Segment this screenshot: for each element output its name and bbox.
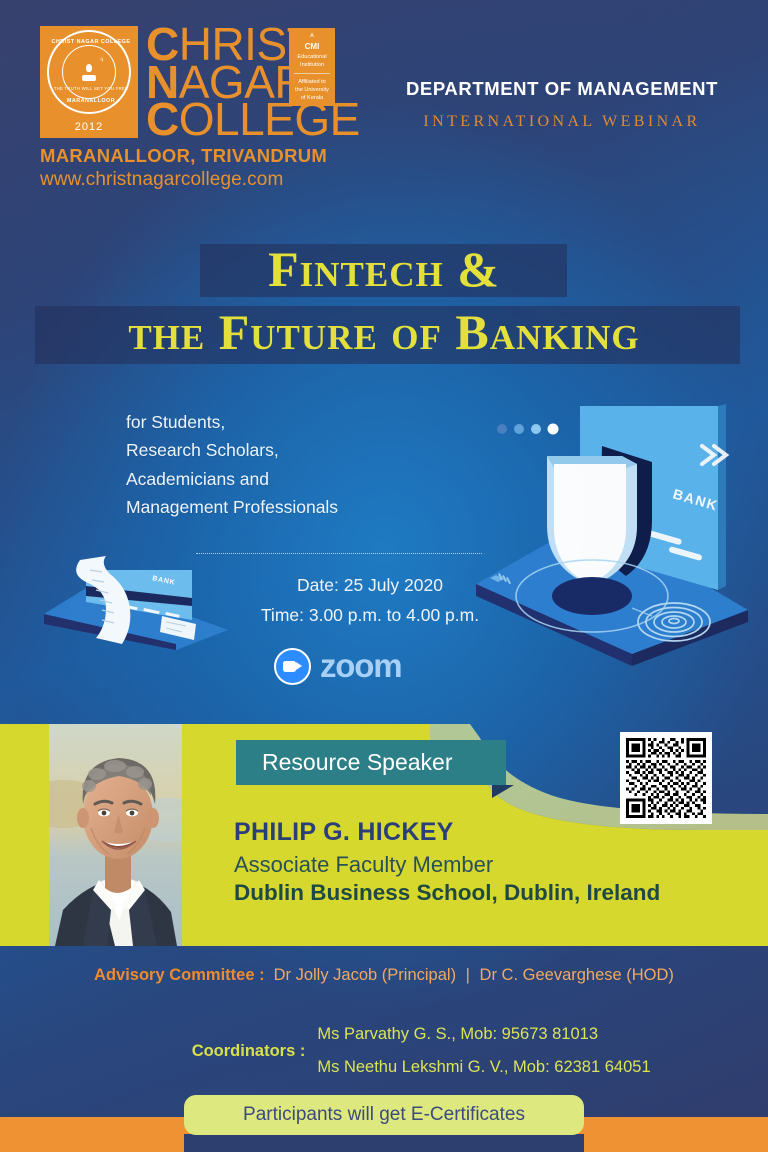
badge-line-6: the University	[289, 86, 335, 94]
cmi-affiliation-badge: A CMI Educational Institution Affiliated…	[289, 28, 335, 106]
coordinators-label: Coordinators :	[117, 1042, 317, 1061]
badge-line-3: Educational	[289, 53, 335, 61]
advisory-separator: |	[461, 966, 475, 984]
committee-block: Advisory Committee : Dr Jolly Jacob (Pri…	[0, 966, 768, 985]
college-logo-block: CHRIST NAGAR COLLEGE सत्यमेव जयते THE TR…	[40, 26, 330, 191]
webinar-title-line-1: Fintech &	[0, 240, 768, 298]
name-cap-3: C	[146, 93, 179, 145]
badge-line-5: Affiliated to	[289, 78, 335, 86]
advisory-name-1: Dr Jolly Jacob (Principal)	[274, 966, 456, 984]
college-website[interactable]: www.christnagarcollege.com	[40, 169, 330, 191]
badge-line-7: of Kerala	[289, 94, 335, 102]
zoom-platform-logo: zoom	[274, 647, 401, 685]
seal-lamp-icon	[72, 55, 106, 89]
advisory-committee-names: Dr Jolly Jacob (Principal) | Dr C. Geeva…	[274, 966, 674, 985]
zoom-wordmark: zoom	[320, 647, 401, 685]
coordinators-row: Coordinators : Ms Parvathy G. S., Mob: 9…	[0, 1018, 768, 1084]
webinar-poster: CHRIST NAGAR COLLEGE सत्यमेव जयते THE TR…	[0, 0, 768, 1152]
status-badge: Resource Speaker	[236, 740, 506, 785]
dotted-divider	[196, 553, 482, 554]
advisory-name-2: Dr C. Geevarghese (HOD)	[480, 966, 674, 984]
speaker-role: Associate Faculty Member	[234, 852, 660, 878]
college-location: MARANALLOOR, TRIVANDRUM	[40, 145, 330, 167]
speaker-name: PHILIP G. HICKEY	[234, 818, 660, 847]
avatar	[49, 724, 182, 946]
speaker-portrait	[49, 724, 182, 946]
audience-list: for Students, Research Scholars, Academi…	[126, 408, 338, 521]
schedule-block: Date: 25 July 2020 Time: 3.00 p.m. to 4.…	[150, 570, 590, 630]
audience-line-3: Academicians and	[126, 465, 338, 493]
seal-motto-text: THE TRUTH WILL SET YOU FREE	[49, 86, 133, 91]
coordinator-2: Ms Neethu Lekshmi G. V., Mob: 62381 6405…	[317, 1051, 650, 1084]
webinar-time: Time: 3.00 p.m. to 4.00 p.m.	[150, 600, 590, 630]
seal-year: 2012	[40, 121, 138, 133]
audience-line-4: Management Professionals	[126, 493, 338, 521]
seal-arc-bottom-text: MARANALLOOR	[49, 98, 133, 104]
college-seal-icon: CHRIST NAGAR COLLEGE सत्यमेव जयते THE TR…	[40, 26, 138, 138]
speaker-details: PHILIP G. HICKEY Associate Faculty Membe…	[234, 818, 660, 906]
poster-header: CHRIST NAGAR COLLEGE सत्यमेव जयते THE TR…	[0, 0, 768, 205]
webinar-date: Date: 25 July 2020	[150, 570, 590, 600]
webinar-title-line-2: the Future of Banking	[0, 303, 768, 361]
certificate-note-pill: Participants will get E-Certificates	[184, 1095, 584, 1135]
badge-line-2: CMI	[289, 41, 335, 53]
certificate-note: Participants will get E-Certificates	[243, 1104, 525, 1126]
badge-divider	[294, 73, 330, 74]
badge-line-1: A	[289, 32, 335, 40]
footer-notch-decoration	[184, 1134, 584, 1152]
advisory-committee-label: Advisory Committee :	[94, 966, 265, 985]
advisory-committee-row: Advisory Committee : Dr Jolly Jacob (Pri…	[0, 966, 768, 985]
department-block: DEPARTMENT OF MANAGEMENT INTERNATIONAL W…	[372, 78, 752, 131]
video-camera-icon	[274, 648, 311, 685]
event-type-label: INTERNATIONAL WEBINAR	[372, 113, 752, 131]
speaker-organization: Dublin Business School, Dublin, Ireland	[234, 880, 660, 906]
resource-speaker-label: Resource Speaker	[236, 749, 453, 776]
svg-text:BANK: BANK	[671, 486, 720, 514]
badge-line-4: Institution	[289, 61, 335, 69]
audience-line-2: Research Scholars,	[126, 436, 338, 464]
department-title: DEPARTMENT OF MANAGEMENT	[372, 78, 752, 100]
audience-line-1: for Students,	[126, 408, 338, 436]
coordinators-names: Ms Parvathy G. S., Mob: 95673 81013 Ms N…	[317, 1018, 650, 1084]
coordinator-1: Ms Parvathy G. S., Mob: 95673 81013	[317, 1018, 650, 1051]
qr-code[interactable]	[620, 732, 712, 824]
qr-code-image	[626, 738, 706, 818]
